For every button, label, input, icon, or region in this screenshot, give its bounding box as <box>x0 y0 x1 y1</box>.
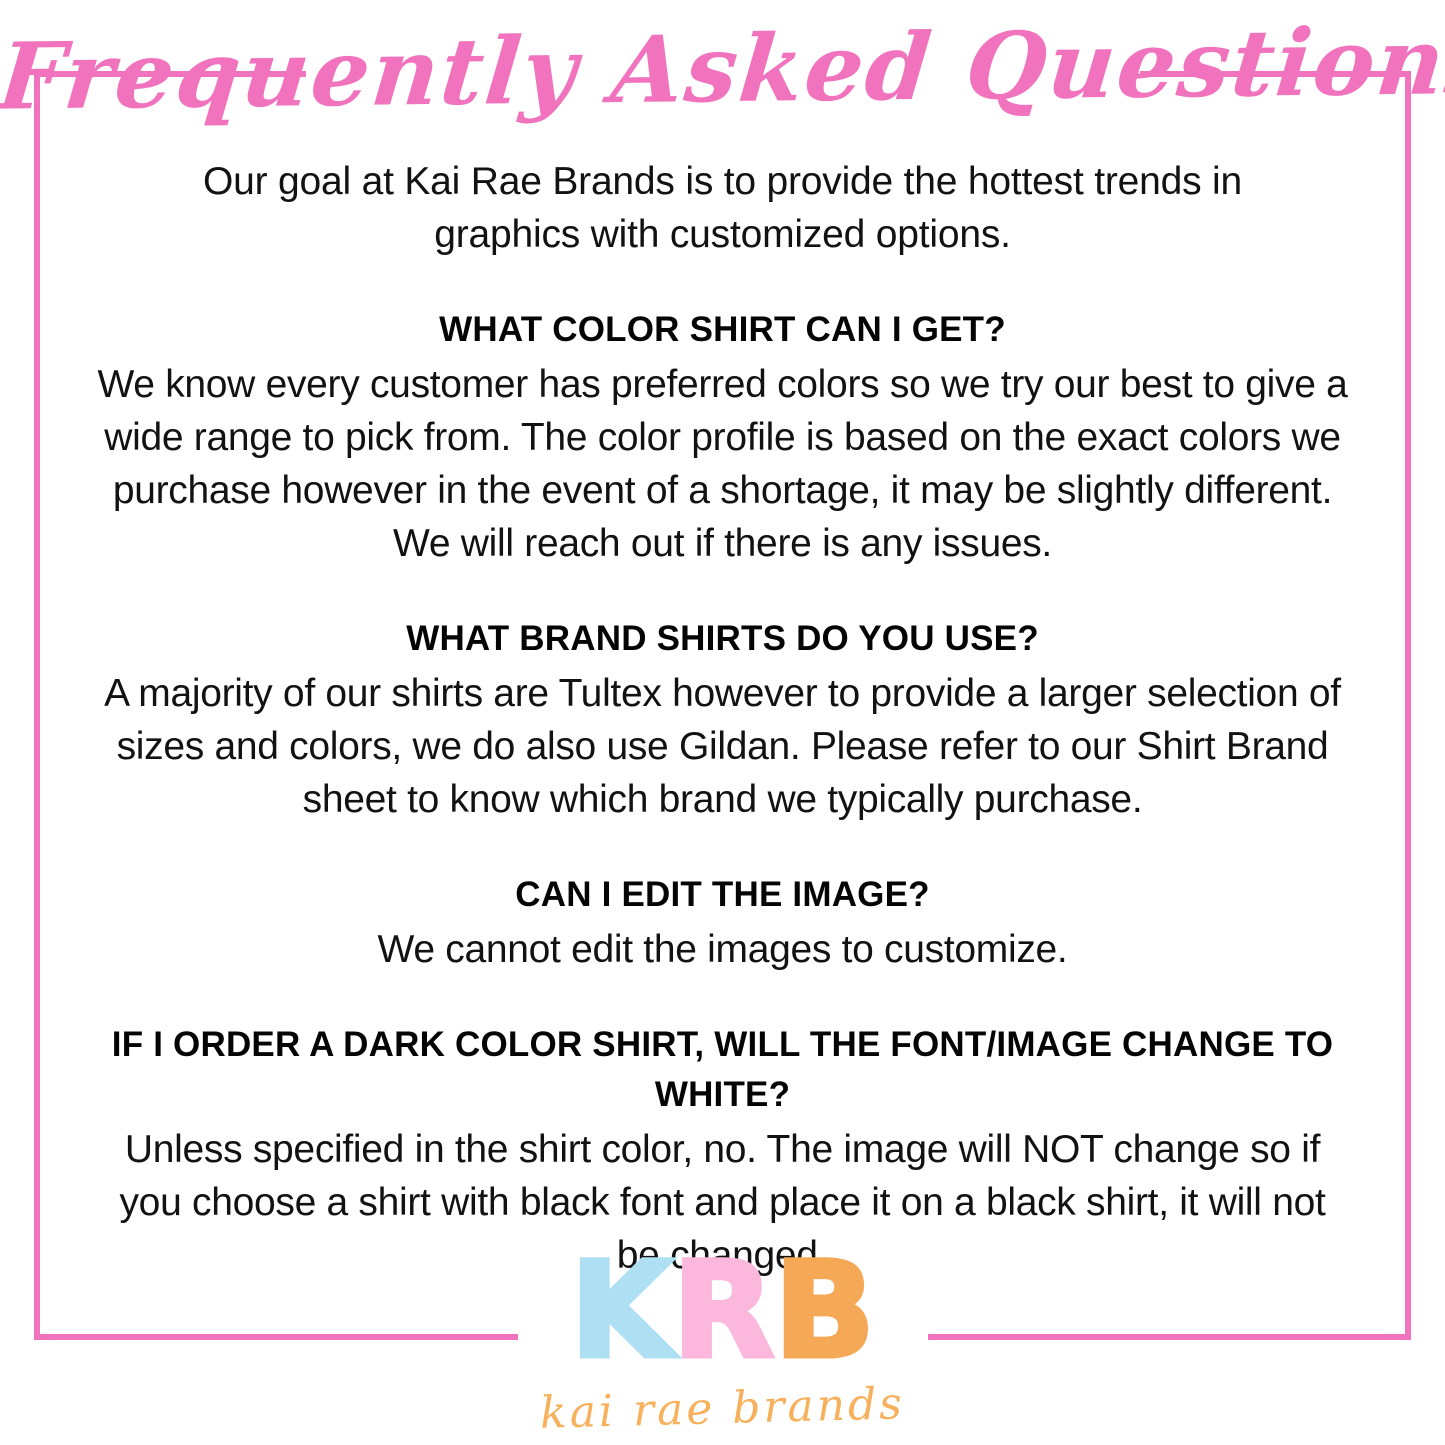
faq-item-1: WHAT COLOR SHIRT CAN I GET? We know ever… <box>95 305 1350 570</box>
faq-content: Our goal at Kai Rae Brands is to provide… <box>95 155 1350 1282</box>
frame-border-right <box>1405 71 1411 1340</box>
faq-item-3: CAN I EDIT THE IMAGE? We cannot edit the… <box>95 870 1350 976</box>
faq-item-2: WHAT BRAND SHIRTS DO YOU USE? A majority… <box>95 614 1350 826</box>
logo-letter-k: K <box>570 1243 672 1379</box>
faq-answer-3: We cannot edit the images to customize. <box>95 923 1350 976</box>
page-title: Frequently Asked Questions <box>0 6 1445 131</box>
faq-answer-1: We know every customer has preferred col… <box>95 358 1350 570</box>
faq-question-2: WHAT BRAND SHIRTS DO YOU USE? <box>95 614 1350 664</box>
intro-paragraph: Our goal at Kai Rae Brands is to provide… <box>95 155 1350 261</box>
logo-letter-r: R <box>673 1243 775 1379</box>
faq-graphic: Frequently Asked Questions Our goal at K… <box>0 0 1445 1445</box>
logo-letter-r-glyph: R <box>673 1234 775 1388</box>
logo-letter-k-glyph: K <box>570 1234 672 1388</box>
logo-lettermark: K R B <box>570 1243 875 1379</box>
faq-question-4: IF I ORDER A DARK COLOR SHIRT, WILL THE … <box>95 1020 1350 1120</box>
brand-logo: K R B kai rae brands <box>0 1243 1445 1435</box>
faq-question-3: CAN I EDIT THE IMAGE? <box>95 870 1350 920</box>
faq-question-1: WHAT COLOR SHIRT CAN I GET? <box>95 305 1350 355</box>
frame-border-left <box>34 71 40 1340</box>
logo-letter-b: B <box>774 1243 875 1379</box>
logo-letter-b-glyph: B <box>774 1234 875 1388</box>
faq-answer-2: A majority of our shirts are Tultex howe… <box>95 667 1350 826</box>
